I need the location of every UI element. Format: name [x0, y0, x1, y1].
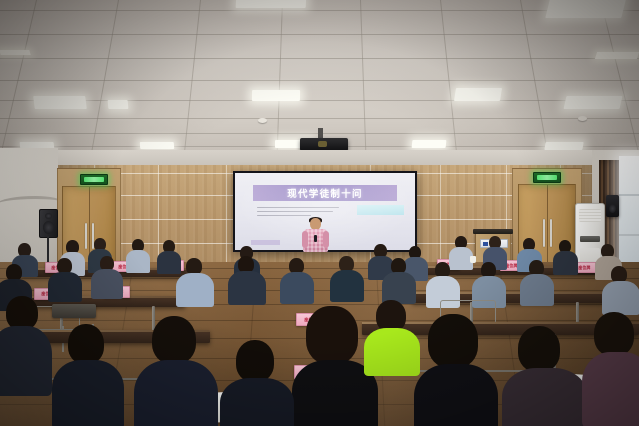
window: [619, 156, 639, 276]
wall-speaker-right: [606, 195, 619, 217]
ac-brand-label: [580, 236, 600, 242]
photo-scene: 现代学徒制十问: [0, 0, 639, 426]
presenter-arm: [323, 231, 329, 248]
paper-cup: [470, 256, 476, 263]
ac-vent-icon: [579, 209, 601, 222]
presenter-arm: [302, 231, 308, 248]
tripod-speaker-left: [39, 209, 58, 238]
chair-back[interactable]: [52, 304, 96, 318]
exit-sign-right: [533, 172, 561, 183]
door-handle-icon[interactable]: [543, 219, 545, 247]
projector-lens-icon: [318, 141, 327, 147]
presenter: [303, 218, 328, 252]
microphone-icon: [314, 235, 317, 242]
exit-sign-left: [80, 174, 108, 185]
door-handle-icon[interactable]: [85, 223, 87, 249]
door-handle-icon[interactable]: [550, 219, 552, 247]
